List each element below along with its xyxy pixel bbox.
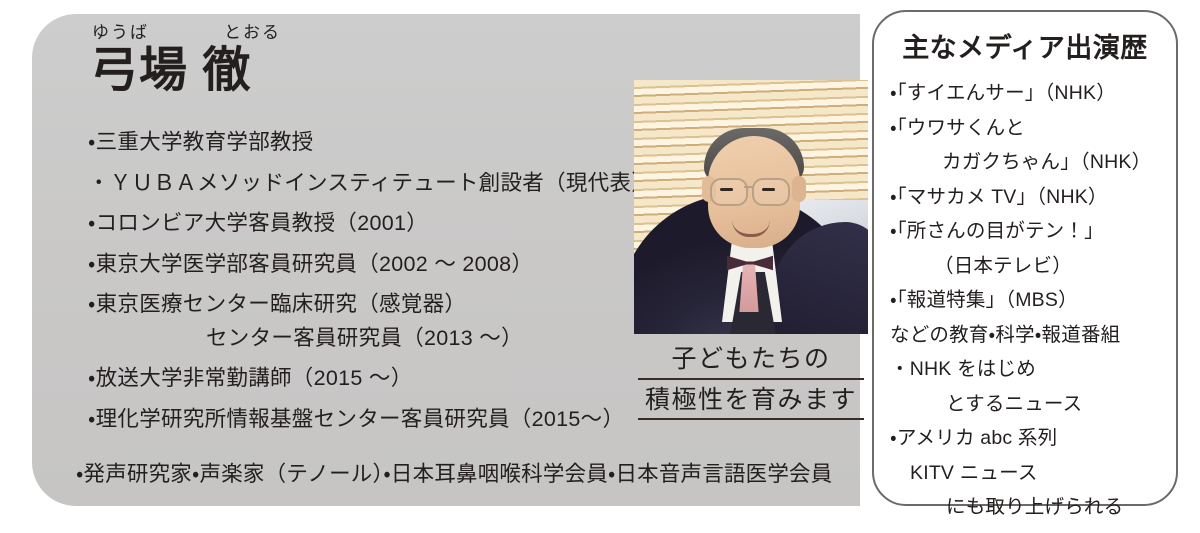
media-list-item: ・「所さんの目がテン！」 — [890, 222, 1174, 242]
media-list-note: などの教育・科学・報道番組 — [890, 326, 1174, 346]
media-list-item-continued: KITV ニュース — [890, 464, 1174, 484]
media-appearances-panel: 主なメディア出演歴 ・「すイエんサー」（NHK） ・「ウワサくんと カガクちゃん… — [872, 10, 1178, 506]
caption-line-1: 子どもたちの — [638, 344, 864, 380]
profile-panel: ゆうば とおる 弓場 徹 ・三重大学教育学部教授 ・ＹＵＢＡメソッドインスティテ… — [32, 14, 860, 506]
portrait-ear-right — [792, 176, 806, 202]
portrait-glasses-bridge — [744, 186, 754, 188]
portrait-glasses-right — [752, 178, 790, 206]
furigana-family: ゆうば — [92, 24, 224, 44]
media-list-item-continued: カガクちゃん」（NHK） — [890, 153, 1174, 173]
media-list-item-continued: （日本テレビ） — [890, 257, 1174, 277]
furigana-row: ゆうば とおる — [68, 24, 388, 44]
media-list-item: ・アメリカ abc 系列 — [890, 429, 1174, 449]
media-list-item: ・「すイエんサー」（NHK） — [890, 84, 1174, 104]
credentials-footer: ・発声研究家・声楽家（テノール）・日本耳鼻咽喉科学会員・日本音声言語医学会員 — [76, 464, 832, 486]
furigana-given: とおる — [224, 24, 324, 44]
page-title: 弓場 徹 — [68, 44, 388, 98]
media-list-item-continued: とするニュース — [890, 395, 1174, 415]
name-block: ゆうば とおる 弓場 徹 — [68, 24, 388, 98]
media-list-item: ・「マサカメ TV」（NHK） — [890, 188, 1174, 208]
portrait-caption: 子どもたちの 積極性を育みます — [638, 344, 864, 425]
portrait-glasses-left — [710, 178, 748, 206]
caption-line-2: 積極性を育みます — [638, 385, 864, 421]
portrait-photo — [634, 80, 868, 334]
media-list-item: ・NHK をはじめ — [890, 360, 1174, 380]
portrait-eye-right — [762, 188, 775, 191]
media-list-item: ・「ウワサくんと — [890, 119, 1174, 139]
portrait-eye-left — [720, 188, 733, 191]
media-list-item: ・「報道特集」（MBS） — [890, 291, 1174, 311]
media-panel-title: 主なメディア出演歴 — [874, 26, 1176, 65]
media-list-item-continued: にも取り上げられる — [890, 498, 1174, 518]
media-appearances-list: ・「すイエんサー」（NHK） ・「ウワサくんと カガクちゃん」（NHK） ・「マ… — [890, 84, 1174, 533]
portrait-image — [634, 80, 868, 334]
